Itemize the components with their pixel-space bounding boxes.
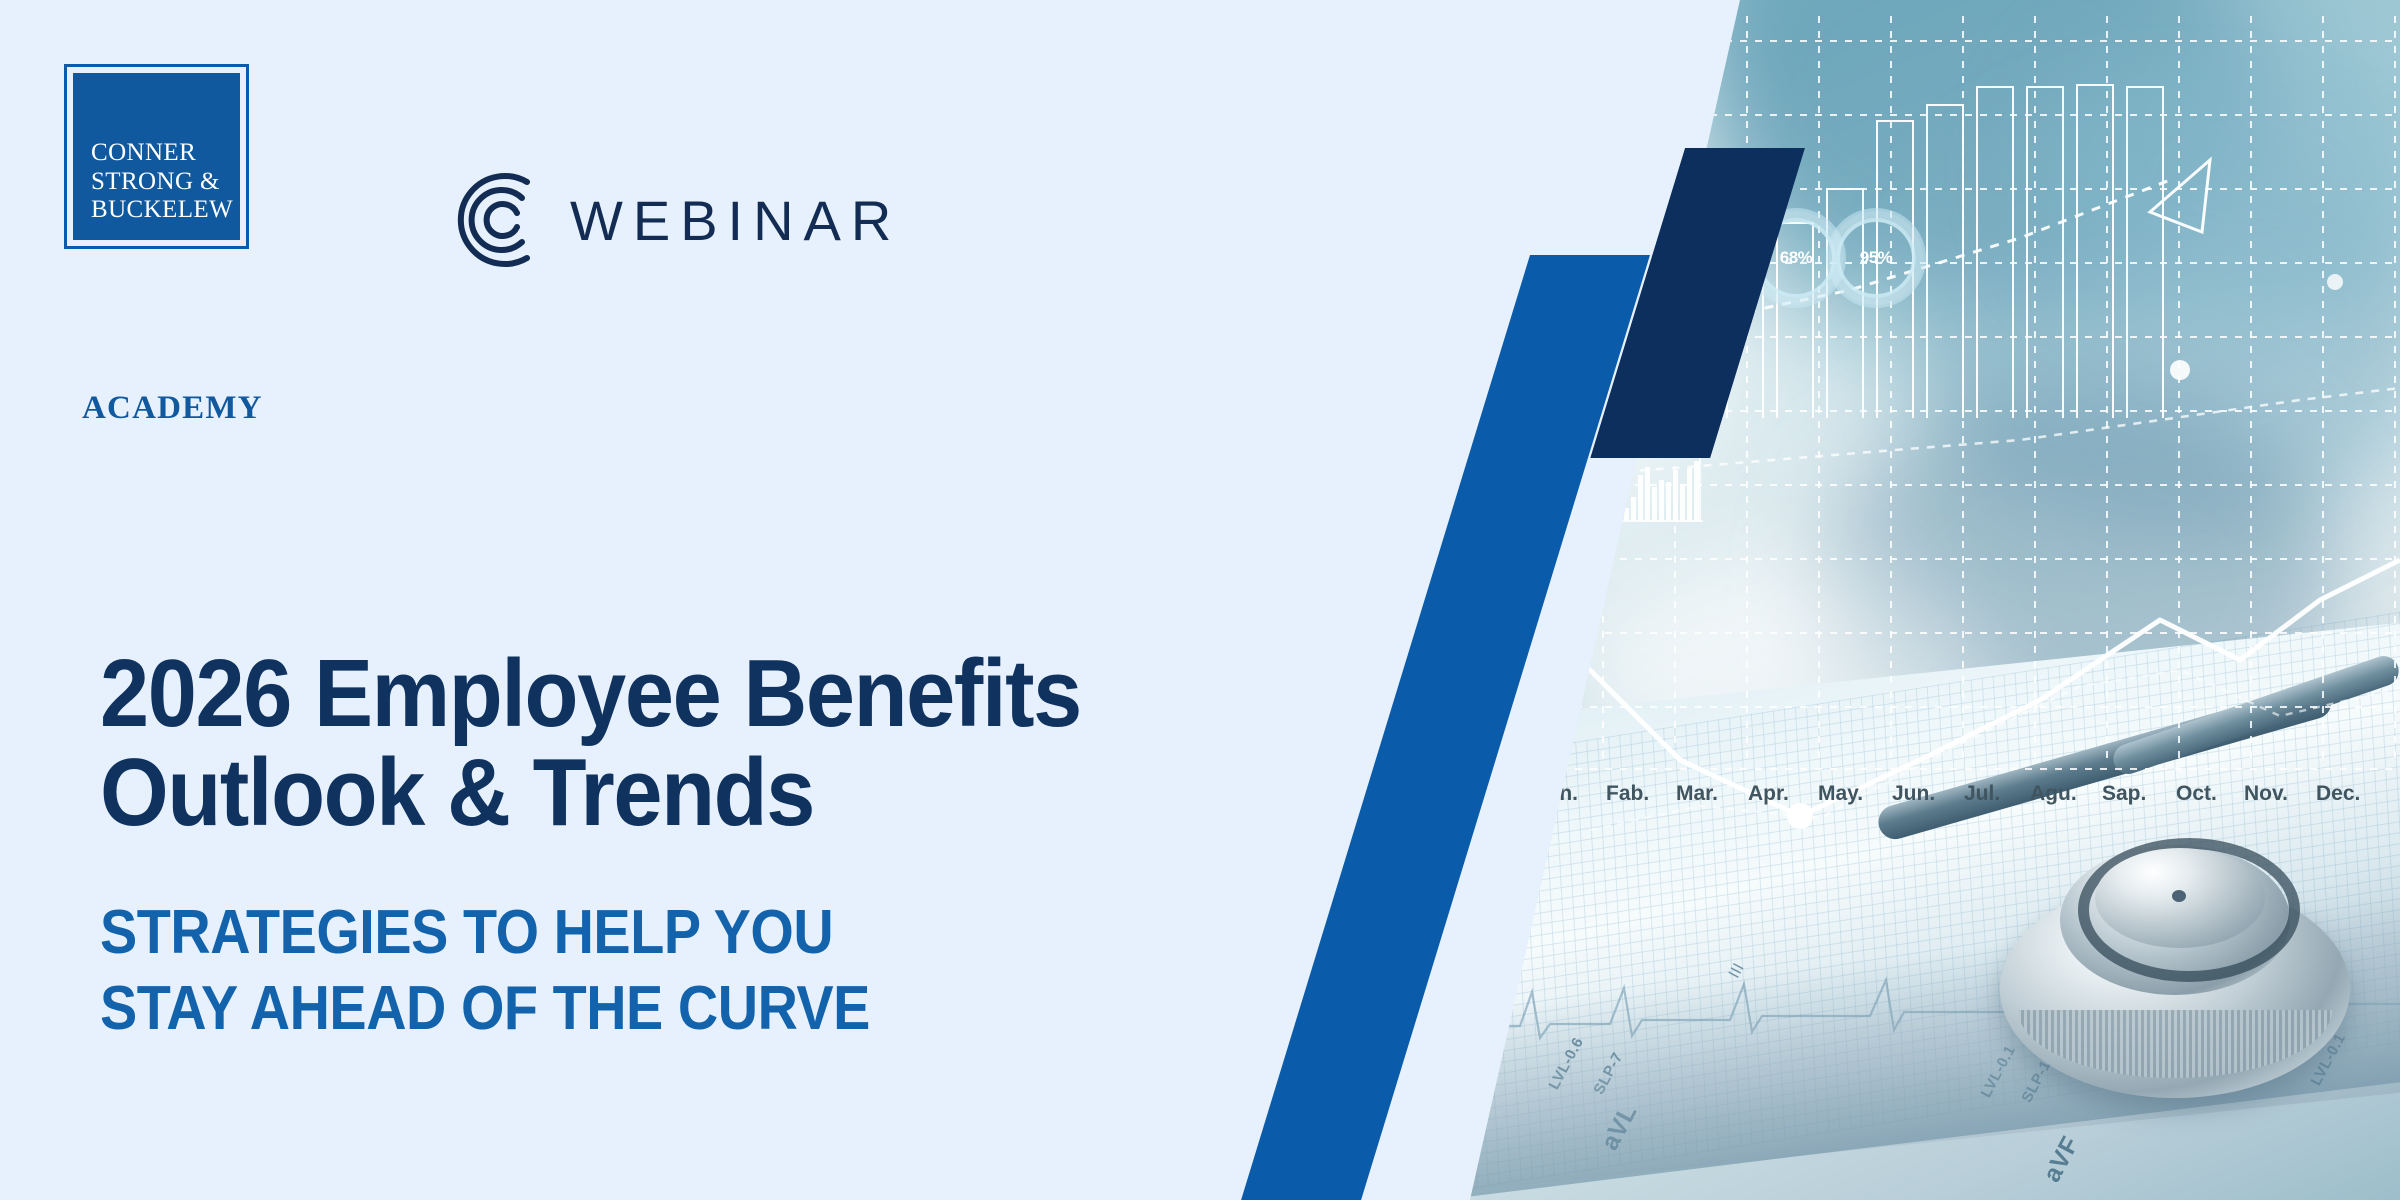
logo-line: CONNER — [91, 139, 196, 167]
inset-bar — [1659, 480, 1664, 521]
inset-bar — [1673, 470, 1678, 521]
hero-photo-panel: LVL-0.6 SLP-7 aVL LVL-0.1 SLP-1 aVF LVL-… — [1400, 0, 2400, 1200]
page-subtitle: STRATEGIES TO HELP YOU STAY AHEAD OF THE… — [100, 895, 1270, 1046]
subtitle-line-1: STRATEGIES TO HELP YOU — [100, 895, 1270, 971]
x-tick: Jan. — [1536, 782, 1578, 806]
inset-bar — [1680, 484, 1685, 521]
company-logo: CONNER STRONG & BUCKELEW — [64, 64, 249, 249]
page-title: 2026 Employee Benefits Outlook & Trends — [100, 645, 1296, 843]
logo-line: STRONG & — [91, 168, 220, 196]
inset-bar — [1645, 467, 1650, 521]
x-tick: Sap. — [2102, 782, 2146, 806]
y-tick: 180 — [1462, 28, 1522, 54]
x-tick: Fab. — [1606, 782, 1649, 806]
inset-bar — [1666, 482, 1671, 521]
logo-line: BUCKELEW — [91, 196, 233, 224]
webinar-badge: WEBINAR — [452, 172, 901, 268]
y-tick: 120 — [1462, 250, 1522, 276]
x-tick: Agu. — [2030, 782, 2077, 806]
x-tick: Dec. — [2316, 782, 2360, 806]
logo-academy-label: ACADEMY — [82, 390, 252, 427]
inset-bar — [1687, 468, 1692, 521]
x-tick: Apr. — [1748, 782, 1789, 806]
webinar-banner: LVL-0.6 SLP-7 aVL LVL-0.1 SLP-1 aVF LVL-… — [0, 0, 2400, 1200]
chart-x-axis: Jan. Fab. Mar. Apr. May. Jun. Jul. Agu. … — [1530, 782, 2400, 822]
webinar-label: WEBINAR — [570, 188, 901, 253]
square-marker-icon — [1578, 532, 1599, 553]
inset-bar — [1638, 475, 1643, 521]
inset-bar — [1694, 461, 1699, 521]
inset-bar — [1617, 513, 1622, 521]
x-tick: Jun. — [1892, 782, 1935, 806]
inset-bar — [1624, 508, 1629, 521]
broadcast-waves-icon — [452, 172, 548, 268]
inset-bar-chart — [1615, 455, 1701, 527]
x-tick: Jul. — [1964, 782, 2000, 806]
x-tick: Nov. — [2244, 782, 2288, 806]
stethoscope-center-dot — [2172, 890, 2186, 902]
x-tick: Oct. — [2176, 782, 2217, 806]
square-marker-icon — [1578, 504, 1599, 525]
y-tick: 140 — [1462, 176, 1522, 202]
x-tick: May. — [1818, 782, 1863, 806]
x-tick: Mar. — [1676, 782, 1718, 806]
title-line-1: 2026 Employee Benefits — [100, 645, 1296, 744]
subtitle-line-2: STAY AHEAD OF THE CURVE — [100, 971, 1270, 1047]
y-tick: 160 — [1462, 102, 1522, 128]
inset-bar — [1631, 497, 1636, 521]
inset-bar — [1652, 487, 1657, 521]
title-line-2: Outlook & Trends — [100, 744, 1296, 843]
